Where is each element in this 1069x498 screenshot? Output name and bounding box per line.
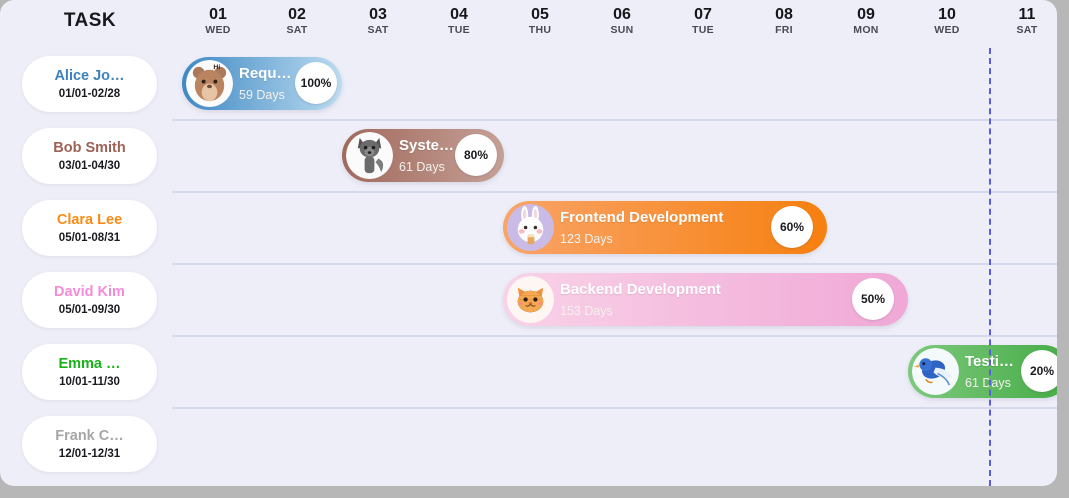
- assignee-name: Frank C…: [55, 427, 124, 445]
- gantt-bar-system-design[interactable]: Syste… 61 Days 80%: [342, 129, 504, 182]
- gantt-bar-progress-badge: 80%: [455, 134, 497, 176]
- date-column-2[interactable]: 02 SAT: [269, 6, 325, 37]
- gantt-bar-label: Requ…: [239, 64, 292, 84]
- gantt-bar-duration: 59 Days: [239, 86, 292, 105]
- gantt-chart-panel: TASK 01 WED 02 SAT 03 SAT 04 TUE 05 THU …: [0, 0, 1057, 486]
- gantt-bar-progress-badge: 20%: [1021, 350, 1057, 392]
- bear-avatar-icon: Hi: [186, 60, 233, 107]
- date-weekday: TUE: [675, 24, 731, 37]
- gantt-bar-requirements[interactable]: Hi Requ… 59 Days 100%: [182, 57, 342, 110]
- assignee-date-range: 05/01-09/30: [59, 302, 120, 318]
- date-number: 03: [350, 6, 406, 24]
- date-column-1[interactable]: 01 WED: [190, 6, 246, 37]
- gantt-bar-duration: 61 Days: [399, 158, 454, 177]
- date-number: 04: [431, 6, 487, 24]
- gantt-bar-frontend-development[interactable]: Frontend Development 123 Days 60%: [503, 201, 827, 254]
- gantt-bar-duration: 123 Days: [560, 230, 723, 249]
- date-weekday: SAT: [269, 24, 325, 37]
- date-number: 05: [512, 6, 568, 24]
- task-row-label-clara[interactable]: Clara Lee 05/01-08/31: [22, 200, 157, 256]
- date-number: 06: [594, 6, 650, 24]
- date-weekday: SAT: [999, 24, 1055, 37]
- date-number: 01: [190, 6, 246, 24]
- gantt-header-row: TASK 01 WED 02 SAT 03 SAT 04 TUE 05 THU …: [0, 0, 1057, 48]
- task-row-label-frank[interactable]: Frank C… 12/01-12/31: [22, 416, 157, 472]
- task-row-label-david[interactable]: David Kim 05/01-09/30: [22, 272, 157, 328]
- gantt-bar-text: Syste… 61 Days: [399, 136, 454, 177]
- assignee-date-range: 12/01-12/31: [59, 446, 120, 462]
- cat-avatar-icon: [507, 276, 554, 323]
- date-number: 07: [675, 6, 731, 24]
- date-weekday: THU: [512, 24, 568, 37]
- gantt-bar-progress-badge: 60%: [771, 206, 813, 248]
- rabbit-avatar-icon: [507, 204, 554, 251]
- assignee-name: David Kim: [54, 283, 125, 301]
- date-column-9[interactable]: 09 MON: [838, 6, 894, 37]
- date-number: 11: [999, 6, 1055, 24]
- gantt-bar-label: Frontend Development: [560, 208, 723, 228]
- date-column-4[interactable]: 04 TUE: [431, 6, 487, 37]
- gantt-bar-backend-development[interactable]: Backend Development 153 Days 50%: [503, 273, 908, 326]
- assignee-date-range: 05/01-08/31: [59, 230, 120, 246]
- date-column-5[interactable]: 05 THU: [512, 6, 568, 37]
- task-row-label-bob[interactable]: Bob Smith 03/01-04/30: [22, 128, 157, 184]
- bird-avatar-icon: [912, 348, 959, 395]
- gantt-bar-testing[interactable]: Testi… 61 Days 20%: [908, 345, 1057, 398]
- date-number: 09: [838, 6, 894, 24]
- row-separator: [172, 263, 1057, 265]
- gantt-bar-text: Frontend Development 123 Days: [560, 208, 723, 249]
- gantt-bar-text: Requ… 59 Days: [239, 64, 292, 105]
- date-number: 10: [919, 6, 975, 24]
- gantt-bar-text: Backend Development 153 Days: [560, 280, 721, 321]
- task-row-label-emma[interactable]: Emma … 10/01-11/30: [22, 344, 157, 400]
- assignee-date-range: 01/01-02/28: [59, 86, 120, 102]
- row-separator: [172, 407, 1057, 409]
- assignee-date-range: 03/01-04/30: [59, 158, 120, 174]
- gantt-bar-label: Syste…: [399, 136, 454, 156]
- today-marker-line: [989, 48, 991, 486]
- assignee-name: Clara Lee: [57, 211, 122, 229]
- gantt-rows-area: Alice Jo… 01/01-02/28 Bob Smith 03/01-04…: [0, 48, 1057, 486]
- date-weekday: TUE: [431, 24, 487, 37]
- gantt-bar-progress-badge: 100%: [295, 62, 337, 104]
- date-column-6[interactable]: 06 SUN: [594, 6, 650, 37]
- task-row-label-alice[interactable]: Alice Jo… 01/01-02/28: [22, 56, 157, 112]
- wolf-avatar-icon: [346, 132, 393, 179]
- row-separator: [172, 119, 1057, 121]
- date-column-10[interactable]: 10 WED: [919, 6, 975, 37]
- date-weekday: FRI: [756, 24, 812, 37]
- task-column-title: TASK: [10, 10, 170, 32]
- row-separator: [172, 191, 1057, 193]
- date-weekday: WED: [190, 24, 246, 37]
- svg-text:Hi: Hi: [213, 64, 220, 71]
- assignee-name: Bob Smith: [53, 139, 126, 157]
- assignee-name: Alice Jo…: [54, 67, 124, 85]
- date-number: 08: [756, 6, 812, 24]
- date-column-11[interactable]: 11 SAT: [999, 6, 1055, 37]
- date-weekday: SAT: [350, 24, 406, 37]
- assignee-date-range: 10/01-11/30: [59, 374, 120, 390]
- date-weekday: MON: [838, 24, 894, 37]
- date-column-7[interactable]: 07 TUE: [675, 6, 731, 37]
- date-number: 02: [269, 6, 325, 24]
- gantt-bar-label: Backend Development: [560, 280, 721, 300]
- date-weekday: WED: [919, 24, 975, 37]
- date-column-8[interactable]: 08 FRI: [756, 6, 812, 37]
- date-weekday: SUN: [594, 24, 650, 37]
- assignee-name: Emma …: [58, 355, 120, 373]
- date-column-3[interactable]: 03 SAT: [350, 6, 406, 37]
- gantt-bar-duration: 153 Days: [560, 302, 721, 321]
- row-separator: [172, 335, 1057, 337]
- gantt-bar-progress-badge: 50%: [852, 278, 894, 320]
